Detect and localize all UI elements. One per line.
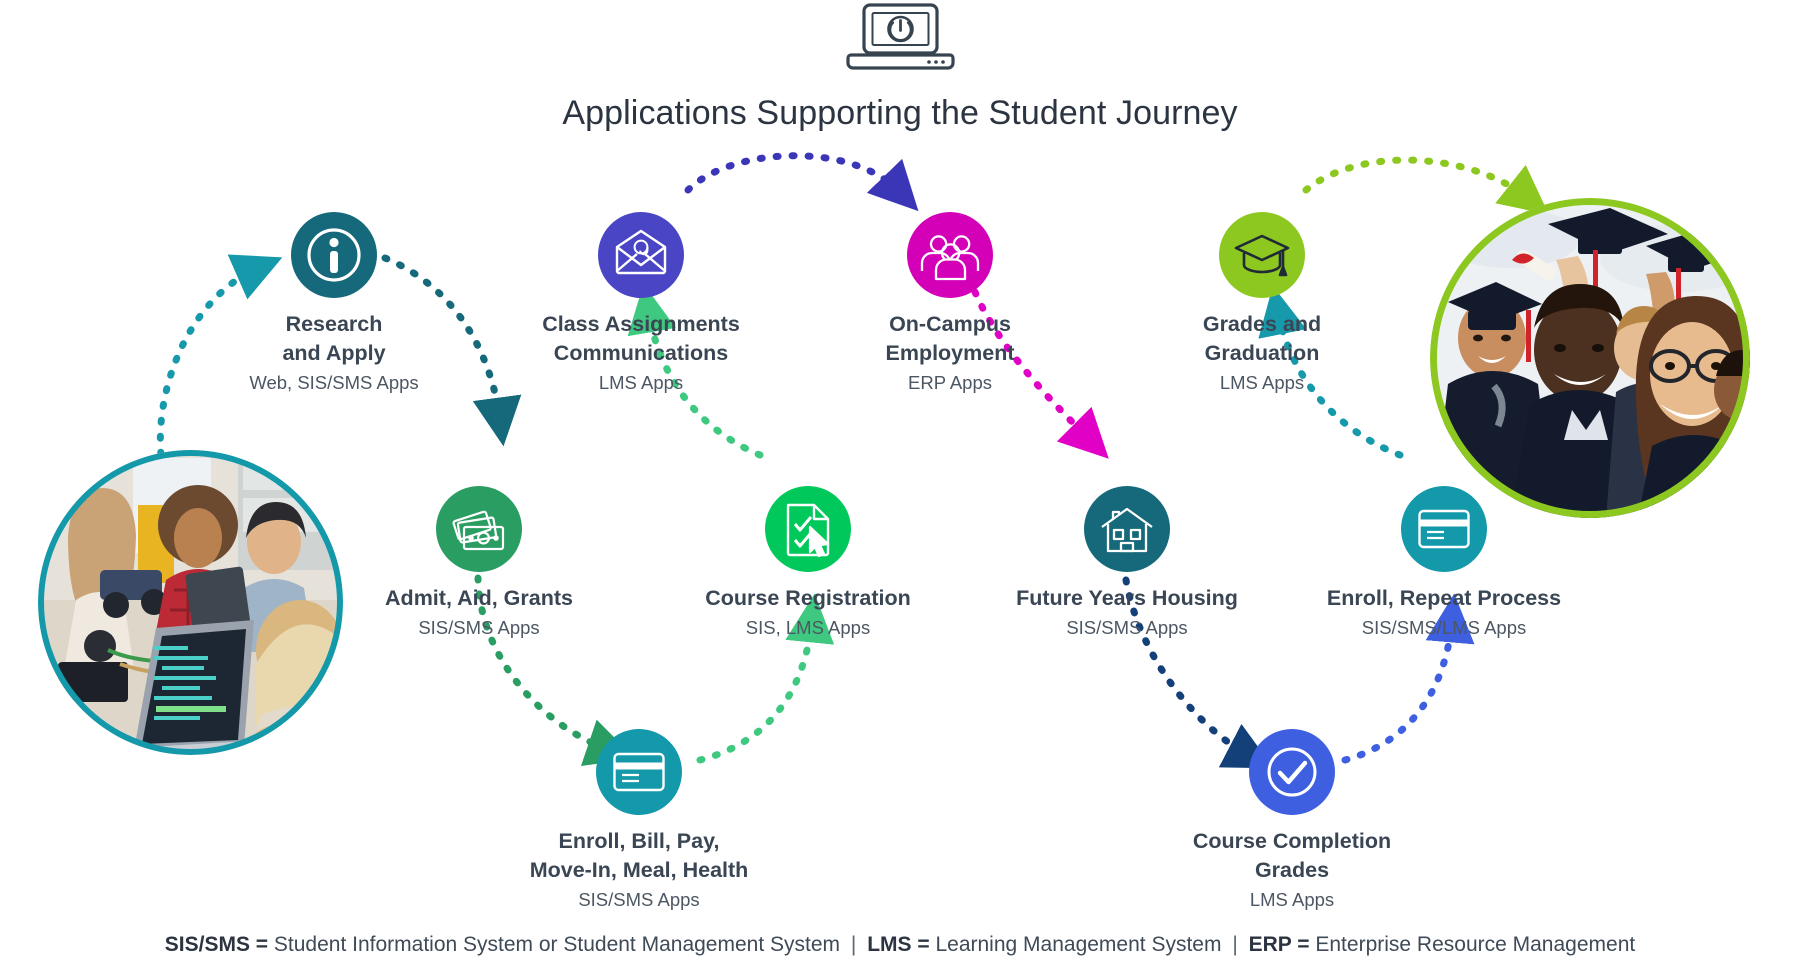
students-robotics-photo: [38, 450, 343, 755]
node-class-assignments-communications[interactable]: Class Assignments Communications LMS App…: [476, 212, 806, 396]
node-research-and-apply[interactable]: Research and Apply Web, SIS/SMS Apps: [169, 212, 499, 396]
node-sublabel: SIS/SMS Apps: [962, 614, 1292, 641]
page-title: Applications Supporting the Student Jour…: [0, 94, 1800, 133]
node-admit-aid-grants[interactable]: Admit, Aid, Grants SIS/SMS Apps: [314, 486, 644, 641]
legend-separator: |: [1227, 933, 1242, 956]
graduation-cap-icon: [1219, 212, 1305, 298]
node-grades-and-graduation[interactable]: Grades and Graduation LMS Apps: [1097, 212, 1427, 396]
envelope-at-icon: [598, 212, 684, 298]
node-label: Future Years Housing: [962, 584, 1292, 613]
checklist-cursor-icon: [765, 486, 851, 572]
house-icon: [1084, 486, 1170, 572]
node-sublabel: LMS Apps: [1127, 886, 1457, 913]
node-label: Enroll, Bill, Pay, Move-In, Meal, Health: [474, 827, 804, 885]
credit-card-icon: [596, 729, 682, 815]
node-sublabel: Web, SIS/SMS Apps: [169, 369, 499, 396]
node-on-campus-employment[interactable]: On-Campus Employment ERP Apps: [785, 212, 1115, 396]
node-future-years-housing[interactable]: Future Years Housing SIS/SMS Apps: [962, 486, 1292, 641]
legend-term-sis-sms: SIS/SMS =: [165, 933, 268, 956]
node-sublabel: LMS Apps: [476, 369, 806, 396]
legend-definition-sis-sms: Student Information System or Student Ma…: [274, 933, 840, 956]
check-circle-icon: [1249, 729, 1335, 815]
node-label: Enroll, Repeat Process: [1279, 584, 1609, 613]
node-label: Research and Apply: [169, 310, 499, 368]
graduation-image: [1430, 198, 1750, 518]
node-enroll-bill-pay-movein-meal-health[interactable]: Enroll, Bill, Pay, Move-In, Meal, Health…: [474, 729, 804, 913]
node-sublabel: ERP Apps: [785, 369, 1115, 396]
node-course-completion-grades[interactable]: Course Completion Grades LMS Apps: [1127, 729, 1457, 913]
node-sublabel: LMS Apps: [1097, 369, 1427, 396]
students-robotics-image: [38, 450, 343, 755]
legend-definition-lms: Learning Management System: [935, 933, 1221, 956]
graduation-photo: [1430, 198, 1750, 518]
node-course-registration[interactable]: Course Registration SIS, LMS Apps: [643, 486, 973, 641]
laptop-power-icon: [843, 2, 958, 72]
node-sublabel: SIS/SMS/LMS Apps: [1279, 614, 1609, 641]
node-label: Course Registration: [643, 584, 973, 613]
three-people-icon: [907, 212, 993, 298]
node-label: Grades and Graduation: [1097, 310, 1427, 368]
node-label: Class Assignments Communications: [476, 310, 806, 368]
node-enroll-repeat-process[interactable]: Enroll, Repeat Process SIS/SMS/LMS Apps: [1279, 486, 1609, 641]
legend-term-erp: ERP =: [1249, 933, 1310, 956]
legend: SIS/SMS = Student Information System or …: [0, 930, 1800, 960]
node-label: Course Completion Grades: [1127, 827, 1457, 885]
cash-money-icon: [436, 486, 522, 572]
info-circle-icon: [291, 212, 377, 298]
node-sublabel: SIS/SMS Apps: [474, 886, 804, 913]
legend-separator: |: [846, 933, 861, 956]
node-label: On-Campus Employment: [785, 310, 1115, 368]
infographic-canvas: Applications Supporting the Student Jour…: [0, 0, 1800, 979]
legend-term-lms: LMS =: [867, 933, 929, 956]
node-label: Admit, Aid, Grants: [314, 584, 644, 613]
node-sublabel: SIS/SMS Apps: [314, 614, 644, 641]
legend-definition-erp: Enterprise Resource Management: [1315, 933, 1635, 956]
node-sublabel: SIS, LMS Apps: [643, 614, 973, 641]
credit-card-icon: [1401, 486, 1487, 572]
